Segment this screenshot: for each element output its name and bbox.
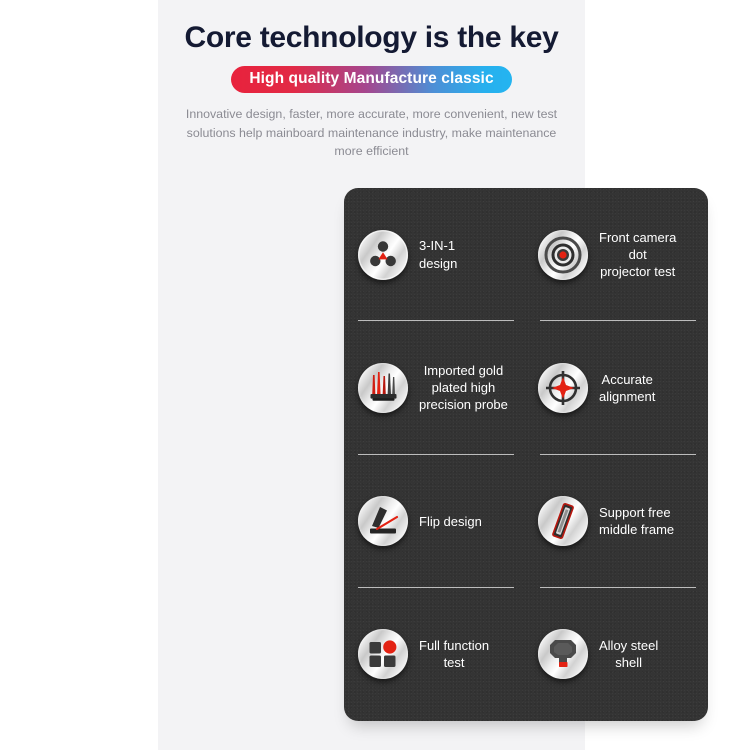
- badge-container: High quality Manufacture classic: [158, 66, 585, 93]
- alloy-steel-shell-icon: [538, 629, 588, 679]
- feature-item-alloy-shell[interactable]: Alloy steel shell: [526, 588, 708, 721]
- feature-grid: 3-IN-1 design Front camera dot projecto: [344, 188, 708, 721]
- feature-item-probe[interactable]: Imported gold plated high precision prob…: [344, 321, 526, 454]
- feature-label: Alloy steel shell: [599, 637, 658, 671]
- three-in-one-icon: [358, 230, 408, 280]
- page-title: Core technology is the key: [158, 0, 585, 56]
- feature-label: Support free middle frame: [599, 504, 674, 538]
- camera-dot-projector-icon: [538, 230, 588, 280]
- feature-label: Full function test: [419, 637, 489, 671]
- feature-panel: 3-IN-1 design Front camera dot projecto: [344, 188, 708, 721]
- content-column: Core technology is the key High quality …: [158, 0, 585, 750]
- full-function-grid-icon: [358, 629, 408, 679]
- page-root: Core technology is the key High quality …: [0, 0, 750, 750]
- header: Core technology is the key High quality …: [158, 0, 585, 161]
- feature-label: Flip design: [419, 513, 482, 530]
- feature-item-alignment[interactable]: Accurate alignment: [526, 321, 708, 454]
- feature-item-front-camera[interactable]: Front camera dot projector test: [526, 188, 708, 321]
- feature-label: Front camera dot projector test: [599, 229, 676, 280]
- middle-frame-icon: [538, 496, 588, 546]
- feature-item-flip-design[interactable]: Flip design: [344, 455, 526, 588]
- feature-label: 3-IN-1 design: [419, 237, 457, 271]
- flip-design-icon: [358, 496, 408, 546]
- feature-label: Accurate alignment: [599, 371, 655, 405]
- crosshair-alignment-icon: [538, 363, 588, 413]
- quality-badge: High quality Manufacture classic: [231, 66, 511, 93]
- feature-item-full-function[interactable]: Full function test: [344, 588, 526, 721]
- feature-item-3-in-1[interactable]: 3-IN-1 design: [344, 188, 526, 321]
- gold-plated-probe-icon: [358, 363, 408, 413]
- feature-item-middle-frame[interactable]: Support free middle frame: [526, 455, 708, 588]
- subtitle-text: Innovative design, faster, more accurate…: [182, 105, 562, 161]
- feature-label: Imported gold plated high precision prob…: [419, 362, 508, 413]
